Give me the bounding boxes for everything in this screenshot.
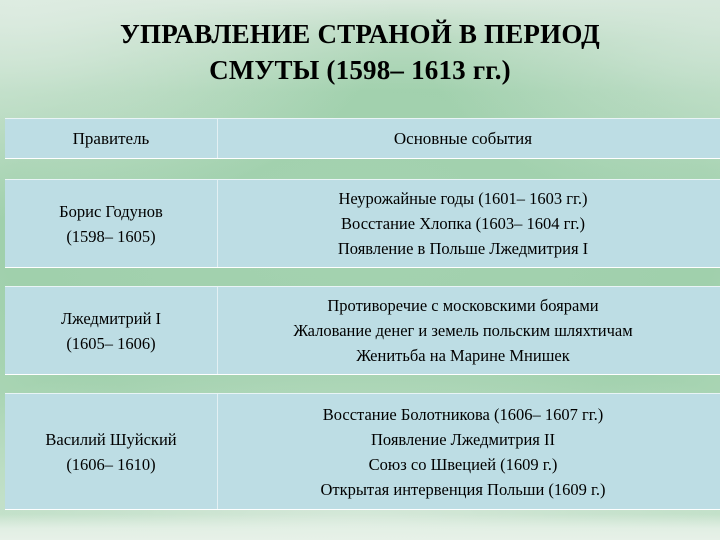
column-header-events-label: Основные события	[394, 126, 532, 151]
event-line: Противоречие с московскими боярами	[327, 293, 598, 318]
ruler-name: Борис Годунов	[59, 199, 163, 224]
ruler-name: Василий Шуйский	[45, 427, 176, 452]
row-events-cell: Восстание Болотникова (1606– 1607 гг.) П…	[218, 394, 720, 509]
table-row: Василий Шуйский (1606– 1610) Восстание Б…	[5, 393, 720, 510]
event-line: Женитьба на Марине Мнишек	[356, 343, 570, 368]
ruler-years: (1605– 1606)	[66, 331, 155, 356]
row-ruler-cell: Борис Годунов (1598– 1605)	[5, 180, 218, 267]
slide: УПРАВЛЕНИЕ СТРАНОЙ В ПЕРИОД СМУТЫ (1598–…	[0, 0, 720, 540]
event-line: Союз со Швецией (1609 г.)	[369, 452, 558, 477]
title-line-1: УПРАВЛЕНИЕ СТРАНОЙ В ПЕРИОД	[0, 16, 720, 52]
table-row: Борис Годунов (1598– 1605) Неурожайные г…	[5, 179, 720, 268]
ruler-years: (1606– 1610)	[66, 452, 155, 477]
table-row: Лжедмитрий I (1605– 1606) Противоречие с…	[5, 286, 720, 375]
event-line: Открытая интервенция Польши (1609 г.)	[320, 477, 605, 502]
rulers-table: Правитель Основные события Борис Годунов…	[5, 118, 720, 528]
row-ruler-cell: Василий Шуйский (1606– 1610)	[5, 394, 218, 509]
page-title: УПРАВЛЕНИЕ СТРАНОЙ В ПЕРИОД СМУТЫ (1598–…	[0, 16, 720, 88]
title-line-2: СМУТЫ (1598– 1613 гг.)	[0, 52, 720, 88]
column-header-ruler: Правитель	[5, 119, 218, 158]
column-header-ruler-label: Правитель	[73, 126, 150, 151]
event-line: Появление Лжедмитрия II	[371, 427, 555, 452]
ruler-name: Лжедмитрий I	[61, 306, 161, 331]
table-header-row: Правитель Основные события	[5, 118, 720, 159]
event-line: Восстание Болотникова (1606– 1607 гг.)	[323, 402, 604, 427]
row-events-cell: Неурожайные годы (1601– 1603 гг.) Восста…	[218, 180, 720, 267]
event-line: Восстание Хлопка (1603– 1604 гг.)	[341, 211, 585, 236]
event-line: Появление в Польше Лжедмитрия I	[338, 236, 588, 261]
slide-footer-wash	[0, 514, 720, 540]
column-header-events: Основные события	[218, 119, 720, 158]
ruler-years: (1598– 1605)	[66, 224, 155, 249]
event-line: Жалование денег и земель польским шляхти…	[293, 318, 632, 343]
row-events-cell: Противоречие с московскими боярами Жалов…	[218, 287, 720, 374]
row-ruler-cell: Лжедмитрий I (1605– 1606)	[5, 287, 218, 374]
event-line: Неурожайные годы (1601– 1603 гг.)	[338, 186, 587, 211]
